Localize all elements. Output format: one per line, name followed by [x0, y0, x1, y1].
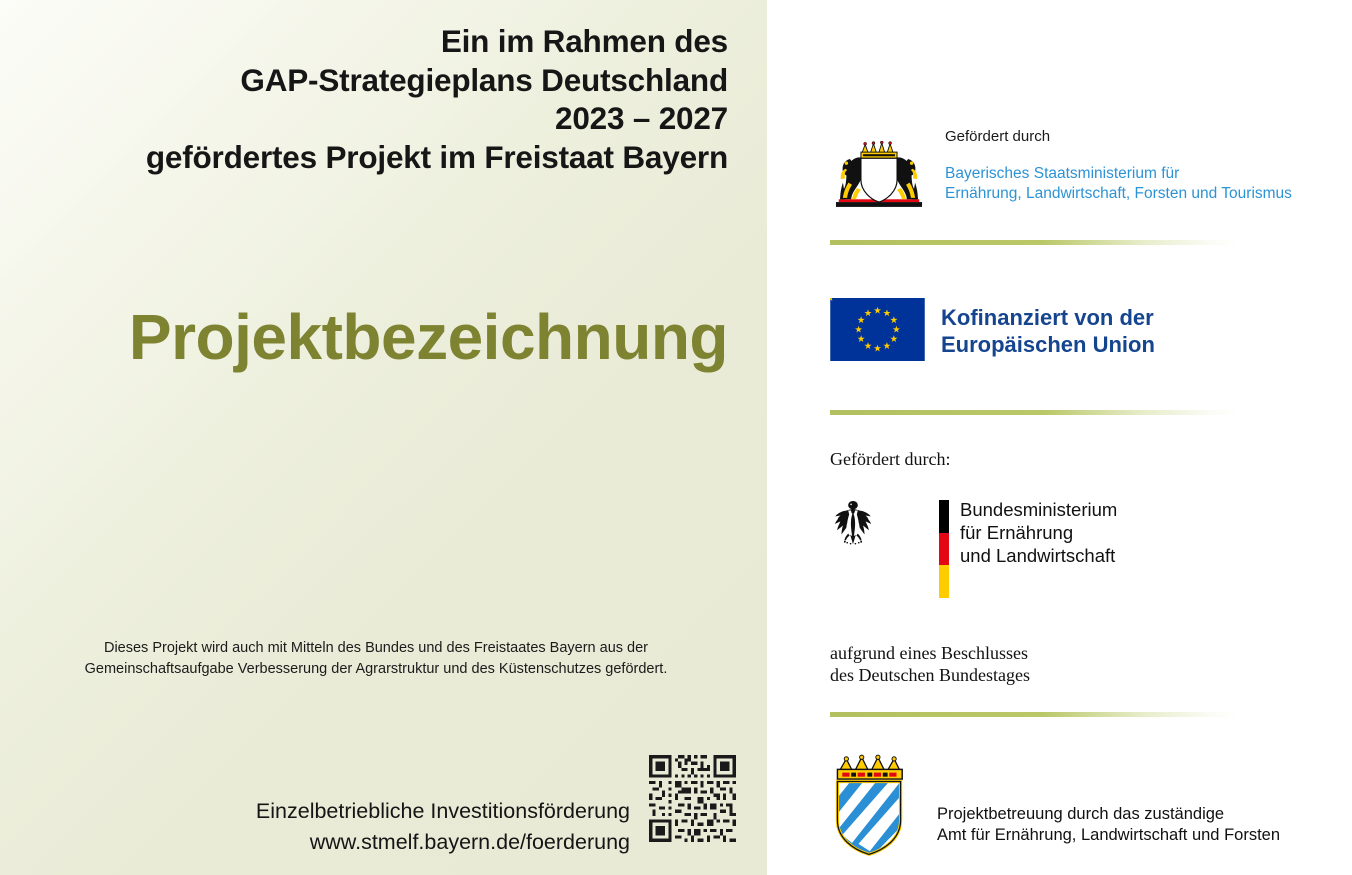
funding-note-line-1: Dieses Projekt wird auch mit Mitteln des… — [20, 638, 732, 659]
eu-line-1: Kofinanziert von der — [941, 304, 1271, 331]
aelf-line-1: Projektbetreuung durch das zuständige — [937, 804, 1337, 825]
eu-flag-icon — [830, 298, 925, 361]
bmel-text: Bundesministerium für Ernährung und Land… — [960, 498, 1280, 567]
bundestag-note: aufgrund eines Beschlusses des Deutschen… — [830, 642, 1030, 686]
program-name: Einzelbetriebliche Investitionsförderung — [180, 796, 630, 827]
program-url[interactable]: www.stmelf.bayern.de/foerderung — [180, 827, 630, 858]
headline: Ein im Rahmen des GAP-Strategieplans Deu… — [28, 22, 728, 176]
headline-line-2: GAP-Strategieplans Deutschland — [28, 61, 728, 100]
headline-line-4: gefördertes Projekt im Freistaat Bayern — [28, 138, 728, 177]
divider-2 — [830, 410, 1240, 415]
eu-line-2: Europäischen Union — [941, 331, 1271, 358]
poster-root: Ein im Rahmen des GAP-Strategieplans Deu… — [0, 0, 1352, 875]
flag-segment-gold — [939, 565, 949, 598]
aelf-text: Projektbetreuung durch das zuständige Am… — [937, 804, 1337, 846]
qr-code-icon[interactable] — [646, 752, 739, 845]
left-panel: Ein im Rahmen des GAP-Strategieplans Deu… — [0, 0, 767, 875]
aelf-block: Projektbetreuung durch das zuständige Am… — [827, 754, 1327, 864]
bmel-line-3: und Landwirtschaft — [960, 544, 1280, 567]
bavaria-shield-icon — [830, 754, 908, 856]
program-and-url-block: Einzelbetriebliche Investitionsförderung… — [180, 752, 740, 857]
divider-1 — [830, 240, 1240, 245]
headline-line-1: Ein im Rahmen des — [28, 22, 728, 61]
federal-eagle-icon — [829, 498, 877, 550]
headline-line-3: 2023 – 2027 — [28, 99, 728, 138]
bmel-line-2: für Ernährung — [960, 521, 1280, 544]
aelf-line-2: Amt für Ernährung, Landwirtschaft und Fo… — [937, 825, 1337, 846]
bundestag-line-1: aufgrund eines Beschlusses — [830, 642, 1030, 664]
funding-note: Dieses Projekt wird auch mit Mitteln des… — [20, 638, 732, 680]
ministry-line-1: Bayerisches Staatsministerium für — [945, 164, 1345, 184]
german-flag-bar-icon — [939, 500, 949, 598]
project-title: Projektbezeichnung — [0, 302, 728, 372]
gefoerdert-durch-kicker-2: Gefördert durch: — [830, 448, 950, 470]
program-url-text: Einzelbetriebliche Investitionsförderung… — [180, 796, 630, 858]
ministry-line-2: Ernährung, Landwirtschaft, Forsten und T… — [945, 184, 1345, 204]
flag-segment-red — [939, 533, 949, 566]
bavaria-coat-of-arms-icon — [830, 141, 928, 209]
right-panel: Gefördert durch Bayerisches Staatsminist… — [767, 0, 1352, 875]
flag-segment-black — [939, 500, 949, 533]
funding-note-line-2: Gemeinschaftsaufgabe Verbesserung der Ag… — [20, 659, 732, 680]
bmel-block: Gefördert durch: — [827, 448, 1287, 688]
divider-3 — [830, 712, 1240, 717]
gefoerdert-durch-kicker: Gefördert durch — [945, 128, 1345, 146]
ministry-text: Gefördert durch Bayerisches Staatsminist… — [945, 128, 1345, 204]
eu-block: Kofinanziert von der Europäischen Union — [827, 298, 1287, 368]
bmel-line-1: Bundesministerium — [960, 498, 1280, 521]
bundestag-line-2: des Deutschen Bundestages — [830, 664, 1030, 686]
eu-text: Kofinanziert von der Europäischen Union — [941, 304, 1271, 358]
bayern-ministry-block: Gefördert durch Bayerisches Staatsminist… — [827, 128, 1347, 218]
